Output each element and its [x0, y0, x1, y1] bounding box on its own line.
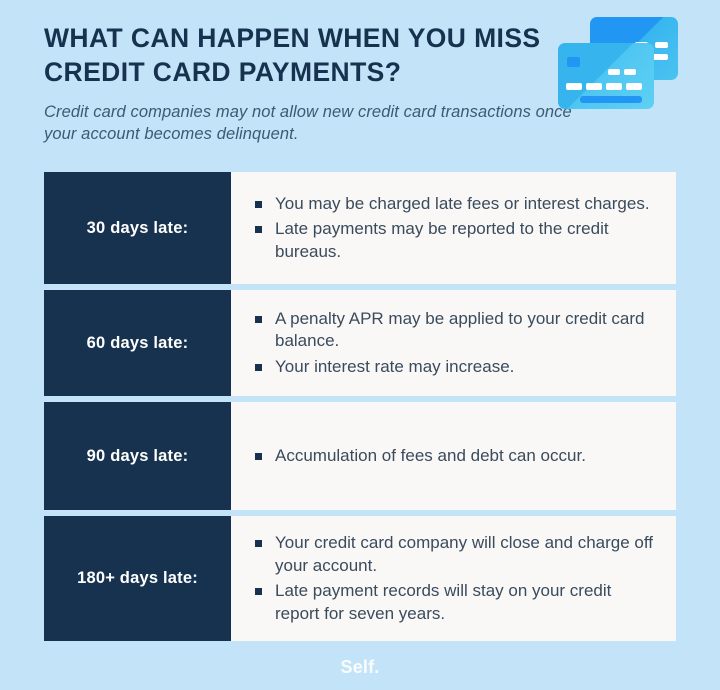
bullet-list: A penalty APR may be applied to your cre… — [253, 308, 658, 379]
card-detail-bar — [608, 69, 620, 75]
timeline-row-60-days: 60 days late: A penalty APR may be appli… — [44, 290, 676, 396]
row-label-30-days: 30 days late: — [44, 172, 231, 284]
card-detail-bar — [655, 42, 668, 48]
brand-logo: Self. — [340, 657, 379, 677]
card-stripe — [580, 96, 642, 103]
card-number-block — [606, 83, 622, 90]
timeline-rows: 30 days late: You may be charged late fe… — [44, 172, 676, 641]
list-item: You may be charged late fees or interest… — [253, 193, 658, 216]
row-label-90-days: 90 days late: — [44, 402, 231, 510]
bullet-list: Your credit card company will close and … — [253, 532, 658, 625]
bullet-list: Accumulation of fees and debt can occur. — [253, 445, 658, 468]
timeline-row-90-days: 90 days late: Accumulation of fees and d… — [44, 402, 676, 510]
row-label-60-days: 60 days late: — [44, 290, 231, 396]
row-body-90-days: Accumulation of fees and debt can occur. — [231, 402, 676, 510]
list-item: Accumulation of fees and debt can occur. — [253, 445, 658, 468]
list-item: Your credit card company will close and … — [253, 532, 658, 577]
bullet-list: You may be charged late fees or interest… — [253, 193, 658, 264]
footer: Self. — [0, 657, 720, 678]
page-title: WHAT CAN HAPPEN WHEN YOU MISS CREDIT CAR… — [44, 22, 564, 89]
row-label-180-days: 180+ days late: — [44, 516, 231, 641]
row-body-30-days: You may be charged late fees or interest… — [231, 172, 676, 284]
card-chip-icon — [567, 57, 580, 67]
card-number-block — [586, 83, 602, 90]
card-detail-bar — [624, 69, 636, 75]
card-number-block — [566, 83, 582, 90]
row-body-180-days: Your credit card company will close and … — [231, 516, 676, 641]
list-item: Late payment records will stay on your c… — [253, 580, 658, 625]
list-item: A penalty APR may be applied to your cre… — [253, 308, 658, 353]
credit-cards-illustration — [558, 17, 678, 109]
list-item: Your interest rate may increase. — [253, 356, 658, 379]
row-body-60-days: A penalty APR may be applied to your cre… — [231, 290, 676, 396]
list-item: Late payments may be reported to the cre… — [253, 218, 658, 263]
card-number-block — [626, 83, 642, 90]
page-subtitle: Credit card companies may not allow new … — [44, 102, 589, 146]
infographic-root: WHAT CAN HAPPEN WHEN YOU MISS CREDIT CAR… — [0, 0, 720, 690]
timeline-row-180-days: 180+ days late: Your credit card company… — [44, 516, 676, 641]
timeline-row-30-days: 30 days late: You may be charged late fe… — [44, 172, 676, 284]
credit-card-front-icon — [558, 43, 654, 109]
